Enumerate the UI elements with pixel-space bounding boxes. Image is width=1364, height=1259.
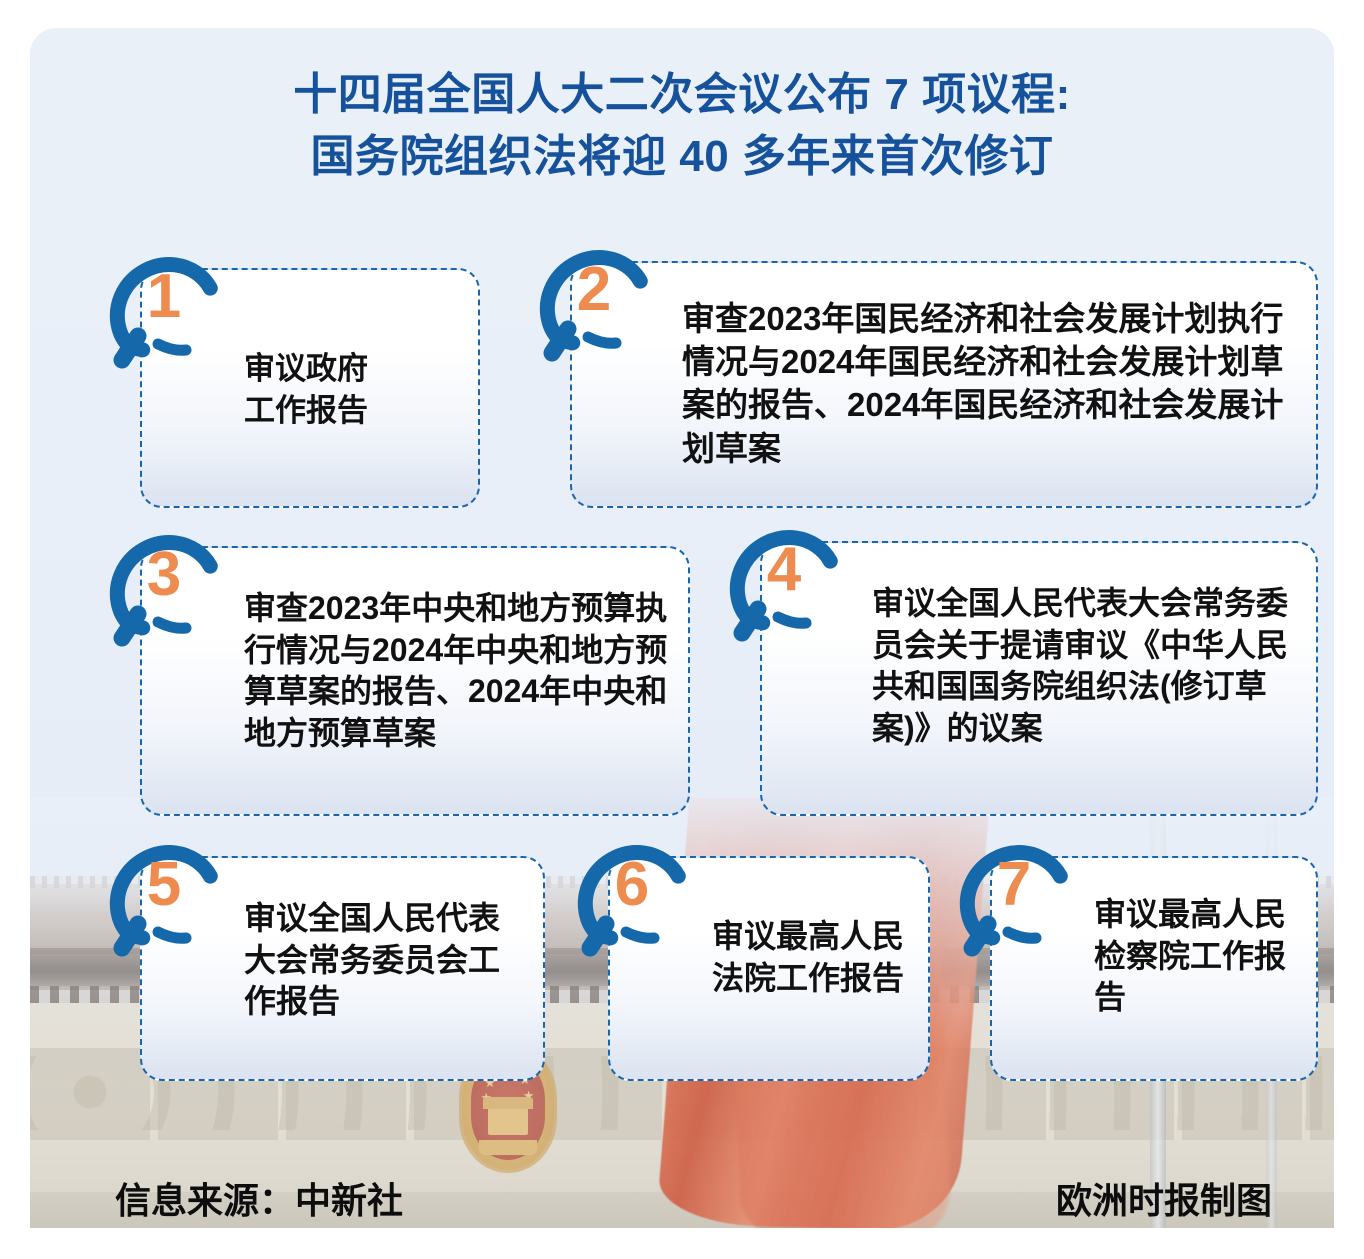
agenda-text-1: 审议政府 工作报告 xyxy=(244,348,474,431)
infographic-stage: ★ ★ ★ ★ ★ 十四届全国人大二次会议公布 7 项议程: 国务院组织法将迎 … xyxy=(0,0,1364,1259)
title-line-1: 十四届全国人大二次会议公布 7 项议程: xyxy=(30,64,1334,126)
agenda-number-2: 2 xyxy=(542,241,642,339)
agenda-text-3: 审查2023年中央和地方预算执行情况与2024年中央和地方预算草案的报告、202… xyxy=(244,588,674,754)
agenda-number-6: 6 xyxy=(580,836,680,934)
magnifier-badge-icon-7: 7 xyxy=(962,836,1080,966)
agenda-card-7[interactable]: 7 审议最高人民检察院工作报告 xyxy=(990,856,1318,1081)
agenda-card-4[interactable]: 4 审议全国人民代表大会常务委员会关于提请审议《中华人民共和国国务院组织法(修订… xyxy=(760,541,1318,816)
content-panel: ★ ★ ★ ★ ★ 十四届全国人大二次会议公布 7 项议程: 国务院组织法将迎 … xyxy=(30,28,1334,1228)
agenda-number-7: 7 xyxy=(962,836,1062,934)
agenda-number-3: 3 xyxy=(112,526,212,624)
agenda-card-6[interactable]: 6 审议最高人民法院工作报告 xyxy=(608,856,930,1081)
agenda-number-5: 5 xyxy=(112,836,212,934)
page-title: 十四届全国人大二次会议公布 7 项议程: 国务院组织法将迎 40 多年来首次修订 xyxy=(30,64,1334,189)
magnifier-badge-icon-2: 2 xyxy=(542,241,660,371)
agenda-text-2: 审查2023年国民经济和社会发展计划执行情况与2024年国民经济和社会发展计划草… xyxy=(682,297,1298,470)
magnifier-badge-icon-4: 4 xyxy=(732,521,850,651)
agenda-card-3[interactable]: 3 审查2023年中央和地方预算执行情况与2024年中央和地方预算草案的报告、2… xyxy=(140,546,690,816)
agenda-text-7: 审议最高人民检察院工作报告 xyxy=(1094,894,1308,1019)
title-line-2: 国务院组织法将迎 40 多年来首次修订 xyxy=(30,126,1334,188)
agenda-text-4: 审议全国人民代表大会常务委员会关于提请审议《中华人民共和国国务院组织法(修订草案… xyxy=(872,583,1302,749)
agenda-number-1: 1 xyxy=(112,248,212,346)
magnifier-badge-icon-1: 1 xyxy=(112,248,230,378)
magnifier-badge-icon-6: 6 xyxy=(580,836,698,966)
magnifier-badge-icon-3: 3 xyxy=(112,526,230,656)
agenda-text-5: 审议全国人民代表大会常务委员会工作报告 xyxy=(244,898,524,1023)
agenda-text-6: 审议最高人民法院工作报告 xyxy=(712,916,918,999)
credit-label: 欧洲时报制图 xyxy=(1056,1183,1272,1219)
agenda-card-2[interactable]: 2 审查2023年国民经济和社会发展计划执行情况与2024年国民经济和社会发展计… xyxy=(570,261,1318,508)
source-label: 信息来源：中新社 xyxy=(115,1183,403,1219)
agenda-number-4: 4 xyxy=(732,521,832,619)
agenda-card-5[interactable]: 5 审议全国人民代表大会常务委员会工作报告 xyxy=(140,856,545,1081)
agenda-card-1[interactable]: 1 审议政府 工作报告 xyxy=(140,268,480,508)
magnifier-badge-icon-5: 5 xyxy=(112,836,230,966)
